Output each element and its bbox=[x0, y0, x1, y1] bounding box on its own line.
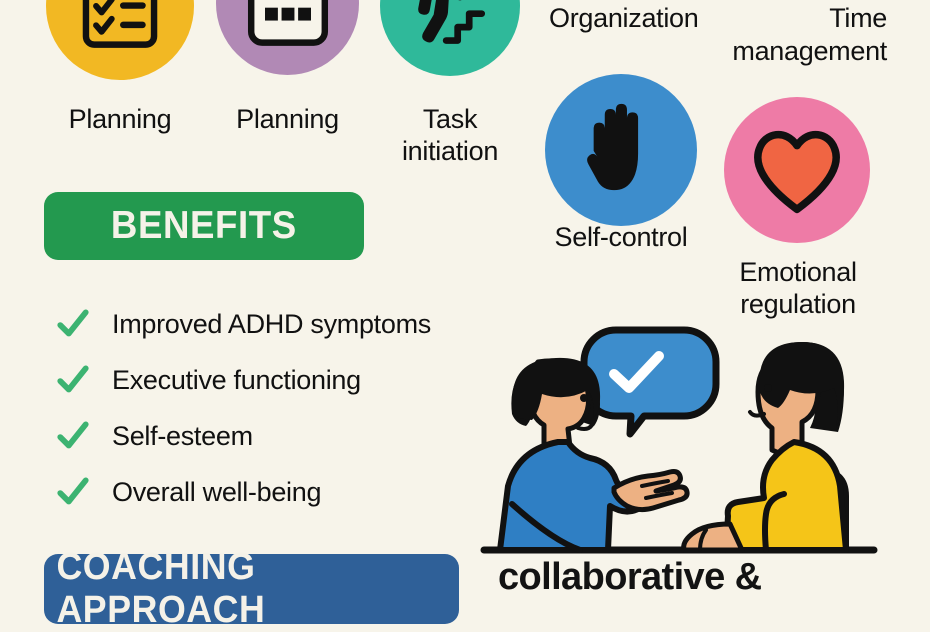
clipboard-checklist-icon bbox=[74, 0, 166, 52]
benefits-banner-label: BENEFITS bbox=[111, 204, 297, 248]
skill-label: Task initiation bbox=[374, 104, 526, 168]
benefit-label: Improved ADHD symptoms bbox=[112, 309, 431, 340]
skill-label: Planning bbox=[46, 104, 194, 136]
coaching-approach-banner: COACHING APPROACH bbox=[44, 554, 459, 624]
list-item: Improved ADHD symptoms bbox=[56, 296, 526, 352]
right-person-eye bbox=[764, 384, 772, 392]
skill-circle-purple bbox=[216, 0, 359, 75]
speech-bubble bbox=[584, 330, 716, 434]
person-climbing-stairs-icon bbox=[402, 0, 498, 54]
skill-circle-blue bbox=[545, 74, 697, 226]
label-time-management: Time management bbox=[727, 2, 887, 68]
skill-label: Planning bbox=[216, 104, 359, 136]
benefit-label: Overall well-being bbox=[112, 477, 321, 508]
skill-label: Self-control bbox=[531, 222, 711, 254]
list-item: Executive functioning bbox=[56, 352, 526, 408]
left-person-eye bbox=[580, 394, 588, 402]
label-organization: Organization bbox=[549, 2, 699, 35]
benefits-list: Improved ADHD symptoms Executive functio… bbox=[56, 296, 526, 520]
skill-label: Emotional regulation bbox=[716, 257, 880, 321]
check-icon bbox=[56, 475, 90, 509]
skill-circle-teal bbox=[380, 0, 520, 76]
check-icon bbox=[56, 363, 90, 397]
benefit-label: Executive functioning bbox=[112, 365, 361, 396]
benefit-label: Self-esteem bbox=[112, 421, 253, 452]
list-item: Overall well-being bbox=[56, 464, 526, 520]
raised-hand-icon bbox=[578, 103, 664, 197]
two-people-conversation-illustration bbox=[466, 318, 886, 570]
benefits-banner: BENEFITS bbox=[44, 192, 364, 260]
list-item: Self-esteem bbox=[56, 408, 526, 464]
check-icon bbox=[56, 307, 90, 341]
skill-circle-pink bbox=[724, 97, 870, 243]
coaching-tagline: collaborative & bbox=[498, 556, 761, 599]
skill-circle-yellow bbox=[46, 0, 194, 80]
infographic-canvas: Planning Planning Task initiation bbox=[0, 0, 930, 620]
grid-squares-icon bbox=[242, 0, 334, 50]
check-icon bbox=[56, 419, 90, 453]
heart-icon bbox=[750, 125, 844, 215]
coaching-banner-label: COACHING APPROACH bbox=[56, 546, 446, 632]
